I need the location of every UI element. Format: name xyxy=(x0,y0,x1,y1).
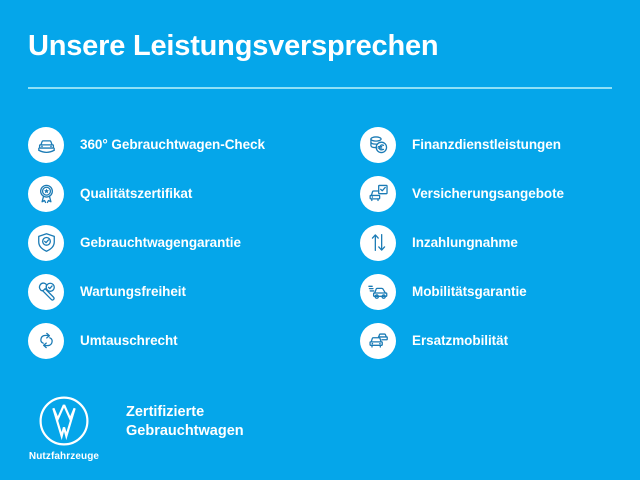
promise-item-gebrauchtwagengarantie[interactable]: Gebrauchtwagengarantie xyxy=(28,218,328,267)
title-divider xyxy=(28,87,612,89)
promise-label: Ersatzmobilität xyxy=(412,333,508,348)
promise-label: Umtauschrecht xyxy=(80,333,178,348)
page-title: Unsere Leistungsversprechen xyxy=(28,28,438,64)
coins-euro-icon xyxy=(360,127,396,163)
slide-root: Unsere Leistungsversprechen 360° xyxy=(0,0,640,480)
promise-item-qualitaetszertifikat[interactable]: Qualitätszertifikat xyxy=(28,169,328,218)
promise-label: Mobilitätsgarantie xyxy=(412,284,527,299)
vw-roundel-icon xyxy=(38,395,90,447)
promise-item-inzahlungnahme[interactable]: Inzahlungnahme xyxy=(360,218,630,267)
promise-item-umtauschrecht[interactable]: Umtauschrecht xyxy=(28,316,328,365)
promise-item-finanzdienstleistungen[interactable]: Finanzdienstleistungen xyxy=(360,120,630,169)
promise-label: Inzahlungnahme xyxy=(412,235,518,250)
car-checklist-icon xyxy=(360,176,396,212)
car-inspection-icon xyxy=(28,127,64,163)
brand-claim-line-2: Gebrauchtwagen xyxy=(126,422,244,441)
promise-label: Finanzdienstleistungen xyxy=(412,137,561,152)
promise-item-gebrauchtwagen-check[interactable]: 360° Gebrauchtwagen-Check xyxy=(28,120,328,169)
vw-logo: Nutzfahrzeuge xyxy=(28,395,100,462)
exchange-arrows-icon xyxy=(28,323,64,359)
promise-label: Qualitätszertifikat xyxy=(80,186,192,201)
up-down-arrows-icon xyxy=(360,225,396,261)
award-rosette-icon xyxy=(28,176,64,212)
promise-column-left: 360° Gebrauchtwagen-Check Qualitätszerti… xyxy=(28,120,328,365)
promise-item-wartungsfreiheit[interactable]: Wartungsfreiheit xyxy=(28,267,328,316)
wrench-check-icon xyxy=(28,274,64,310)
promise-item-versicherungsangebote[interactable]: Versicherungsangebote xyxy=(360,169,630,218)
brand-claim: Zertifizierte Gebrauchtwagen xyxy=(126,403,244,441)
promise-label: Versicherungsangebote xyxy=(412,186,564,201)
promise-item-ersatzmobilitaet[interactable]: Ersatzmobilität xyxy=(360,316,630,365)
brand-claim-line-1: Zertifizierte xyxy=(126,403,244,422)
promise-label: Gebrauchtwagengarantie xyxy=(80,235,241,250)
promise-label: Wartungsfreiheit xyxy=(80,284,186,299)
vw-wordmark: Nutzfahrzeuge xyxy=(29,451,99,462)
promise-label: 360° Gebrauchtwagen-Check xyxy=(80,137,265,152)
promise-item-mobilitaetsgarantie[interactable]: Mobilitätsgarantie xyxy=(360,267,630,316)
car-motion-icon xyxy=(360,274,396,310)
brand-lockup: Nutzfahrzeuge Zertifizierte Gebrauchtwag… xyxy=(28,395,244,462)
promise-column-right: Finanzdienstleistungen Versicherungsange… xyxy=(360,120,630,365)
shield-check-icon xyxy=(28,225,64,261)
two-cars-icon xyxy=(360,323,396,359)
